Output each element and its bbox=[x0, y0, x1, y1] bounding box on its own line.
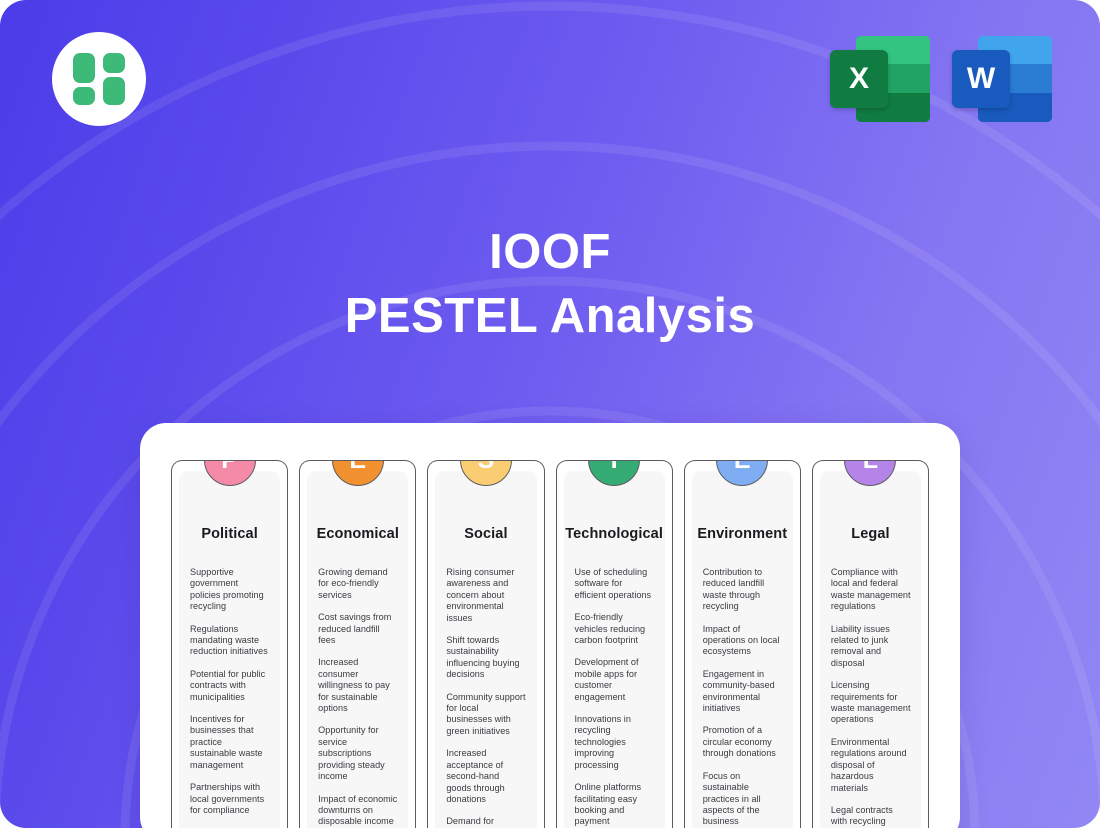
pestel-point-list: Compliance with local and federal waste … bbox=[820, 567, 921, 828]
pestel-point-list: Growing demand for eco-friendly services… bbox=[307, 567, 408, 828]
pestel-point: Cost savings from reduced landfill fees bbox=[318, 612, 398, 646]
pestel-column-heading: Technological bbox=[564, 526, 665, 542]
pestel-point: Innovations in recycling technologies im… bbox=[575, 714, 655, 771]
pestel-column-heading: Political bbox=[179, 526, 280, 542]
pestel-point: Community support for local businesses w… bbox=[446, 692, 526, 738]
pestel-point: Licensing requirements for waste managem… bbox=[831, 680, 911, 726]
pestel-columns: PPoliticalSupportive government policies… bbox=[171, 460, 929, 828]
pestel-point: Incentives for businesses that practice … bbox=[190, 714, 270, 771]
pestel-point: Partnerships with local governments for … bbox=[190, 782, 270, 816]
pestel-point: Promotion of a circular economy through … bbox=[703, 725, 783, 759]
grid-logo-icon bbox=[73, 53, 125, 105]
logo-tile-4 bbox=[103, 77, 125, 105]
pestel-point: Online platforms facilitating easy booki… bbox=[575, 782, 655, 828]
slide-canvas: X W IOOF PESTEL Analysis PPoliticalSuppo… bbox=[0, 0, 1100, 828]
pestel-point-list: Contribution to reduced landfill waste t… bbox=[692, 567, 793, 828]
pestel-point: Rising consumer awareness and concern ab… bbox=[446, 567, 526, 624]
pestel-point: Engagement in community-based environmen… bbox=[703, 669, 783, 715]
pestel-point-list: Use of scheduling software for efficient… bbox=[564, 567, 665, 828]
pestel-point: Compliance with local and federal waste … bbox=[831, 567, 911, 613]
logo-tile-1 bbox=[73, 53, 95, 83]
pestel-point: Increased consumer willingness to pay fo… bbox=[318, 657, 398, 714]
pestel-point-list: Rising consumer awareness and concern ab… bbox=[435, 567, 536, 828]
page-title: IOOF PESTEL Analysis bbox=[0, 222, 1100, 350]
pestel-point: Liability issues related to junk removal… bbox=[831, 624, 911, 670]
pestel-point: Opportunity for service subscriptions pr… bbox=[318, 725, 398, 782]
pestel-column-heading: Environment bbox=[692, 526, 793, 542]
logo-tile-2 bbox=[103, 53, 125, 73]
pestel-point: Supportive government policies promoting… bbox=[190, 567, 270, 613]
pestel-column-environment[interactable]: EEnvironmentContribution to reduced land… bbox=[684, 460, 801, 828]
pestel-point: Shift towards sustainability influencing… bbox=[446, 635, 526, 681]
pestel-point: Focus on sustainable practices in all as… bbox=[703, 771, 783, 828]
pestel-column-economical[interactable]: EEconomicalGrowing demand for eco-friend… bbox=[299, 460, 416, 828]
word-icon[interactable]: W bbox=[952, 28, 1052, 122]
pestel-point: Increased acceptance of second-hand good… bbox=[446, 748, 526, 805]
pestel-point: Contribution to reduced landfill waste t… bbox=[703, 567, 783, 613]
pestel-point: Demand for educational resources on wast… bbox=[446, 816, 526, 828]
excel-icon[interactable]: X bbox=[830, 28, 930, 122]
pestel-point: Legal contracts with recycling centers a… bbox=[831, 805, 911, 828]
pestel-column-political[interactable]: PPoliticalSupportive government policies… bbox=[171, 460, 288, 828]
pestel-point: Growing demand for eco-friendly services bbox=[318, 567, 398, 601]
pestel-column-body: EnvironmentContribution to reduced landf… bbox=[692, 471, 793, 828]
pestel-column-body: LegalCompliance with local and federal w… bbox=[820, 471, 921, 828]
pestel-column-legal[interactable]: LLegalCompliance with local and federal … bbox=[812, 460, 929, 828]
pestel-column-body: TechnologicalUse of scheduling software … bbox=[564, 471, 665, 828]
pestel-column-heading: Legal bbox=[820, 526, 921, 542]
pestel-point: Development of mobile apps for customer … bbox=[575, 657, 655, 703]
brand-logo bbox=[52, 32, 146, 126]
pestel-column-social[interactable]: SSocialRising consumer awareness and con… bbox=[427, 460, 544, 828]
pestel-point: Eco-friendly vehicles reducing carbon fo… bbox=[575, 612, 655, 646]
pestel-point: Impact of economic downturns on disposab… bbox=[318, 794, 398, 828]
excel-icon-letter: X bbox=[830, 50, 888, 108]
pestel-point: Potential for public contracts with muni… bbox=[190, 669, 270, 703]
pestel-point: Impact of operations on local ecosystems bbox=[703, 624, 783, 658]
pestel-column-heading: Social bbox=[435, 526, 536, 542]
title-subject: PESTEL Analysis bbox=[0, 282, 1100, 350]
pestel-point: Environmental regulations around disposa… bbox=[831, 737, 911, 794]
pestel-column-body: SocialRising consumer awareness and conc… bbox=[435, 471, 536, 828]
pestel-column-technological[interactable]: TTechnologicalUse of scheduling software… bbox=[556, 460, 673, 828]
word-icon-letter: W bbox=[952, 50, 1010, 108]
pestel-point: Regulations mandating waste reduction in… bbox=[190, 624, 270, 658]
pestel-panel: PPoliticalSupportive government policies… bbox=[140, 423, 960, 828]
office-app-icons: X W bbox=[830, 28, 1052, 122]
pestel-point-list: Supportive government policies promoting… bbox=[179, 567, 280, 816]
pestel-column-body: EconomicalGrowing demand for eco-friendl… bbox=[307, 471, 408, 828]
logo-tile-3 bbox=[73, 87, 95, 105]
pestel-column-heading: Economical bbox=[307, 526, 408, 542]
title-company: IOOF bbox=[0, 222, 1100, 282]
pestel-point: Use of scheduling software for efficient… bbox=[575, 567, 655, 601]
pestel-column-body: PoliticalSupportive government policies … bbox=[179, 471, 280, 828]
